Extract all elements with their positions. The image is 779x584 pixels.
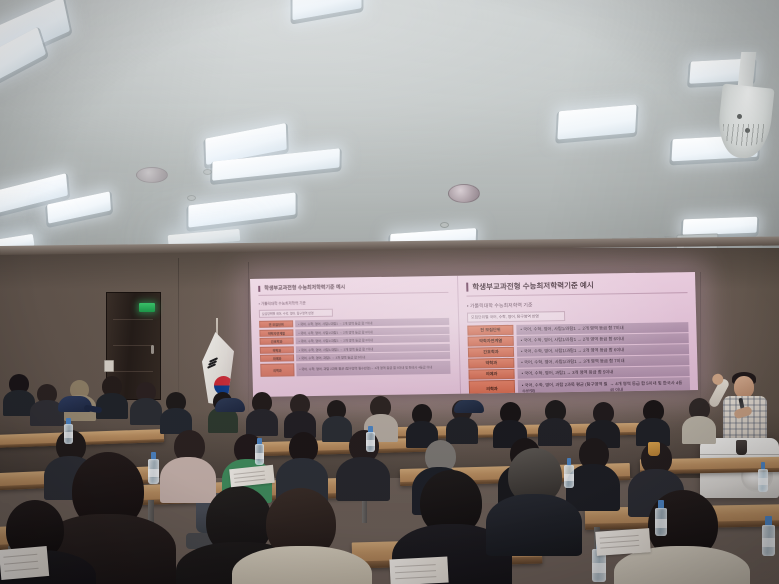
title-accent-bar [466,283,468,292]
ceiling-dome-speaker [448,184,480,203]
lecture-hall-photo: 학생부교과전형 수능최저학력기준 예시 • 가톨릭대학 수능최저학력 기준 모집… [0,0,779,584]
slide-title-text: 학생부교과전형 수능최저학력기준 예시 [472,280,594,293]
row-label: 간호학과 [468,347,514,357]
wall-panel-seam [248,262,249,412]
presenter-head [734,376,754,398]
row-label: 의예과 [468,369,514,379]
wall-panel-seam [178,258,179,408]
attendee-foreground [232,488,372,584]
attendee-cap [454,400,484,413]
slide-right: 학생부교과전형 수능최저학력기준 예시 • 가톨릭대학 수능최저학력 기준 모집… [458,272,698,394]
water-bottle [762,516,775,556]
slide-subtitle-left: • 가톨릭대학 수능최저학력 기준 [259,299,449,307]
row-label: 간호학과 [260,337,294,345]
wall-panel-seam [700,272,701,412]
row-label: 의학과 [469,380,515,394]
handout [389,557,448,584]
presenter-torso [723,396,767,442]
slide-title-text: 학생부교과전형 수능최저학력기준 예시 [264,284,345,292]
water-bottle [64,418,73,444]
row-label: 약학자연계열 [259,329,293,337]
row-value: • 국어, 수학, 영어, 사탐1/과탐1 → 2개 영역 등급 합 7이내 [516,322,688,334]
light-switch-plate[interactable] [104,360,114,372]
water-bottle [148,452,159,484]
smoke-detector-icon [440,222,449,228]
smoke-detector-icon [187,195,196,201]
row-label: 약학과 [468,358,514,368]
row-value-line-2: → 4개 영역 등급 합 5이내 및 한국사 4등급 이내 [371,365,433,370]
row-value: • 국어, 수학, 영어, 사탐1/과탐1 → 2개 영역 등급 합 6이내 [517,333,689,345]
water-bottle [564,458,574,488]
row-value: • 국어, 수학, 영어, 과탐 2과목 평균 (탐구영역 필수반영) → 4개… [296,360,450,375]
attendee [130,382,162,424]
exit-sign-icon [139,303,155,312]
water-bottle [655,500,667,536]
row-label: 의예과 [260,354,294,362]
attendee-cap [215,398,245,412]
attendee [246,392,278,434]
attendee [682,398,716,442]
table-row: 의학과 • 국어, 수학, 영어, 과탐 2과목 평균 (탐구영역 필수반영) … [260,360,450,376]
ceiling-dome-speaker [136,167,168,183]
row-value: • 국어, 수학, 영어, 사탐1/과탐1 → 2개 영역 등급 합 6이내 [517,344,689,356]
row-value: • 국어, 수학, 영어, 사탐1/과탐1 → 3개 영역 등급 합 7이내 [517,355,689,367]
paper-cup [736,440,747,455]
criteria-table-right: 전 모집단위 • 국어, 수학, 영어, 사탐1/과탐1 → 2개 영역 등급 … [467,322,690,394]
slide-note-left: 모집단위별 국어, 수학, 영어, 탐구영역 반영 [259,309,333,318]
row-label: 약학과 [260,346,294,354]
slide-title-right: 학생부교과전형 수능최저학력기준 예시 [466,278,687,296]
attendee [284,394,316,436]
slide-left: 학생부교과전형 수능최저학력기준 예시 • 가톨릭대학 수능최저학력 기준 모집… [250,276,459,397]
row-value-line-1: • 국어, 수학, 영어, 과탐 2과목 평균 (탐구영역 필수반영) [299,366,370,371]
row-label: 약학자연계열 [468,336,514,346]
row-label: 전 모집단위 [259,320,293,328]
slide-subtitle-right: • 가톨릭대학 수능최저학력 기준 [467,299,688,309]
slide-note-right: 모집단위별 국어, 수학, 영어, 탐구영역 반영 [467,311,565,323]
criteria-table-left: 전 모집단위 • 국어, 수학, 영어, 사탐1/과탐1 → 2개 영역 등급 … [259,318,450,378]
attendee [636,400,670,444]
paper-cup [648,442,660,456]
row-label: 의학과 [260,363,294,377]
water-bottle [255,438,264,465]
handout [0,546,49,580]
smoke-detector-icon [203,169,212,175]
wall-mounted-speaker [717,52,773,164]
projection-screen: 학생부교과전형 수능최저학력기준 예시 • 가톨릭대학 수능최저학력 기준 모집… [250,272,698,397]
ceiling-light [683,217,758,236]
water-bottle [366,426,375,452]
title-accent-bar [258,285,260,291]
slide-title-left: 학생부교과전형 수능최저학력기준 예시 [258,282,448,296]
row-label: 전 모집단위 [467,325,513,335]
attendee [160,392,192,432]
water-bottle [758,462,768,492]
row-value: • 국어, 수학, 영어, 과탐1 → 3개 영역 등급 합 5이내 [517,366,689,378]
handout [595,528,651,556]
